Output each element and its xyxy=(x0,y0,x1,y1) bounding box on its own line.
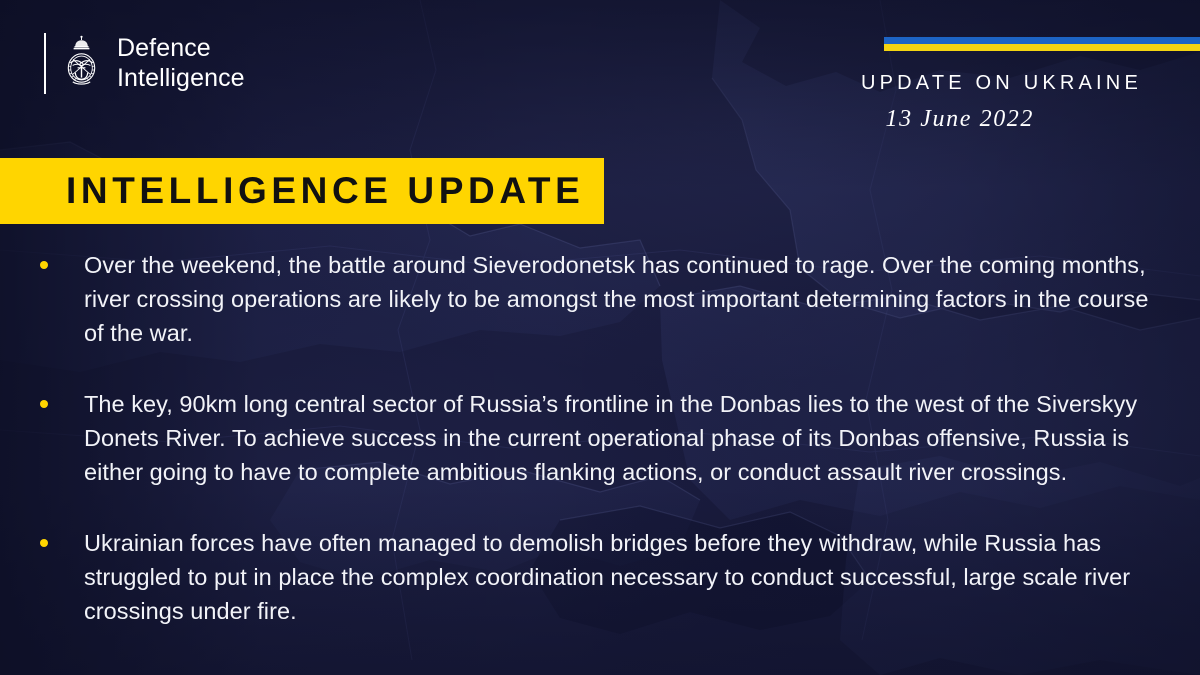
update-date: 13 June 2022 xyxy=(885,106,1034,133)
intelligence-update-banner: INTELLIGENCE UPDATE xyxy=(0,158,604,224)
bullet-dot-icon xyxy=(40,261,48,269)
brand-wordmark: Defence Intelligence xyxy=(117,34,245,93)
brand-line-intelligence: Intelligence xyxy=(117,64,245,94)
intelligence-update-slide: Defence Intelligence UPDATE ON UKRAINE 1… xyxy=(0,0,1200,675)
banner-label: INTELLIGENCE UPDATE xyxy=(0,170,584,212)
vertical-rule-icon xyxy=(44,33,46,94)
brand-lockup: Defence Intelligence xyxy=(44,33,245,94)
update-on-ukraine-title: UPDATE ON UKRAINE xyxy=(861,72,1142,95)
bullet-paragraph: Over the weekend, the battle around Siev… xyxy=(84,248,1158,350)
list-item: Ukrainian forces have often managed to d… xyxy=(40,526,1158,628)
mod-tri-service-crest-icon xyxy=(59,35,104,93)
brand-line-defence: Defence xyxy=(117,34,245,64)
bullet-list: Over the weekend, the battle around Siev… xyxy=(40,248,1158,628)
bullet-paragraph: The key, 90km long central sector of Rus… xyxy=(84,387,1158,489)
bullet-dot-icon xyxy=(40,400,48,408)
flag-stripe-blue xyxy=(884,37,1200,44)
list-item: The key, 90km long central sector of Rus… xyxy=(40,387,1158,489)
list-item: Over the weekend, the battle around Siev… xyxy=(40,248,1158,350)
bullet-dot-icon xyxy=(40,539,48,547)
ukraine-flag-bar-icon xyxy=(884,37,1200,51)
bullet-paragraph: Ukrainian forces have often managed to d… xyxy=(84,526,1158,628)
flag-stripe-yellow xyxy=(884,44,1200,51)
